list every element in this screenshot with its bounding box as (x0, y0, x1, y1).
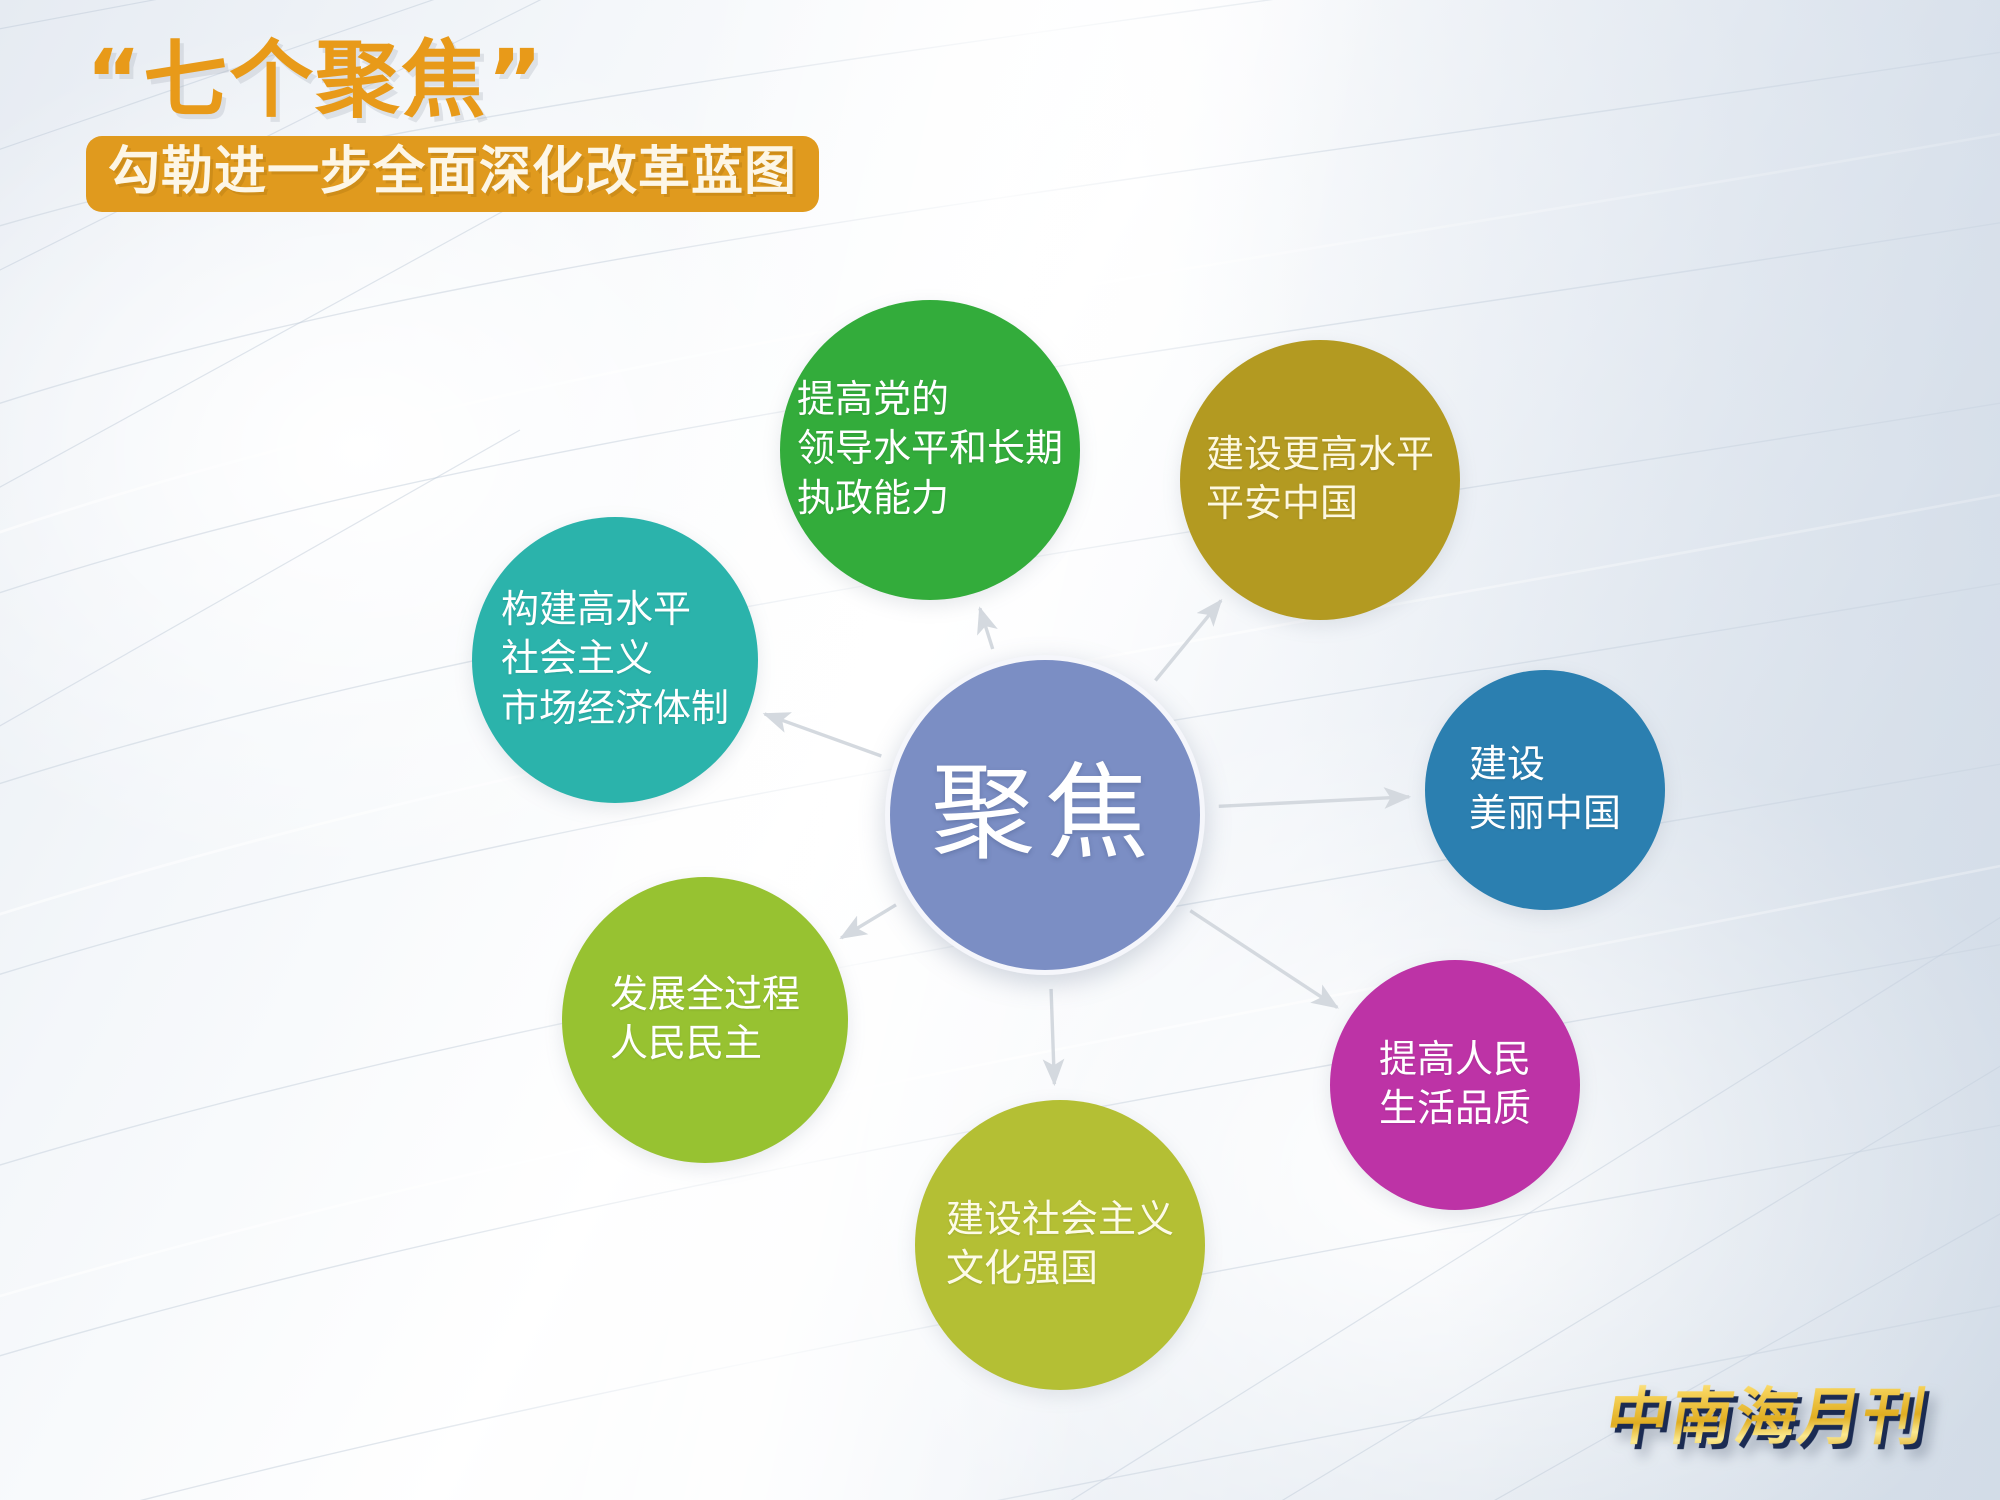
node-whole-process-democracy[interactable]: 发展全过程 人民民主 (562, 877, 848, 1163)
brand-logo: 中南海月刊 (1601, 1366, 1935, 1456)
arrow-to-node-party-leadership (980, 608, 993, 649)
node-safe-china[interactable]: 建设更高水平 平安中国 (1180, 340, 1460, 620)
page-subtitle: 勾勒进一步全面深化改革蓝图 (108, 146, 797, 198)
arrow-to-node-safe-china (1155, 601, 1221, 681)
node-party-leadership-label: 提高党的 领导水平和长期 执政能力 (797, 376, 1063, 524)
arrow-to-node-whole-process-democracy (841, 905, 896, 938)
node-whole-process-democracy-label: 发展全过程 人民民主 (610, 971, 800, 1070)
node-culture-power[interactable]: 建设社会主义 文化强国 (915, 1100, 1205, 1390)
center-node-focus[interactable]: 聚焦 (885, 655, 1205, 975)
arrow-to-node-culture-power (1051, 989, 1054, 1084)
node-life-quality-label: 提高人民 生活品质 (1379, 1036, 1531, 1135)
node-safe-china-label: 建设更高水平 平安中国 (1206, 431, 1434, 530)
node-party-leadership[interactable]: 提高党的 领导水平和长期 执政能力 (780, 300, 1080, 600)
page-title: “七个聚焦” (86, 38, 819, 122)
title-block: “七个聚焦” 勾勒进一步全面深化改革蓝图 (86, 38, 819, 212)
node-market-economy[interactable]: 构建高水平 社会主义 市场经济体制 (472, 517, 758, 803)
node-culture-power-label: 建设社会主义 文化强国 (946, 1196, 1174, 1295)
subtitle-pill: 勾勒进一步全面深化改革蓝图 (86, 136, 819, 212)
node-life-quality[interactable]: 提高人民 生活品质 (1330, 960, 1580, 1210)
node-beautiful-china[interactable]: 建设 美丽中国 (1425, 670, 1665, 910)
node-beautiful-china-label: 建设 美丽中国 (1469, 741, 1621, 840)
node-market-economy-label: 构建高水平 社会主义 市场经济体制 (501, 586, 729, 734)
arrow-to-node-beautiful-china (1219, 797, 1409, 807)
arrow-to-node-market-economy (765, 714, 882, 756)
arrow-to-node-life-quality (1190, 911, 1337, 1008)
infographic-canvas: “七个聚焦” 勾勒进一步全面深化改革蓝图 提高党的 领导水平和长期 执政能力建设… (0, 0, 2000, 1500)
center-node-label: 聚焦 (931, 747, 1159, 882)
